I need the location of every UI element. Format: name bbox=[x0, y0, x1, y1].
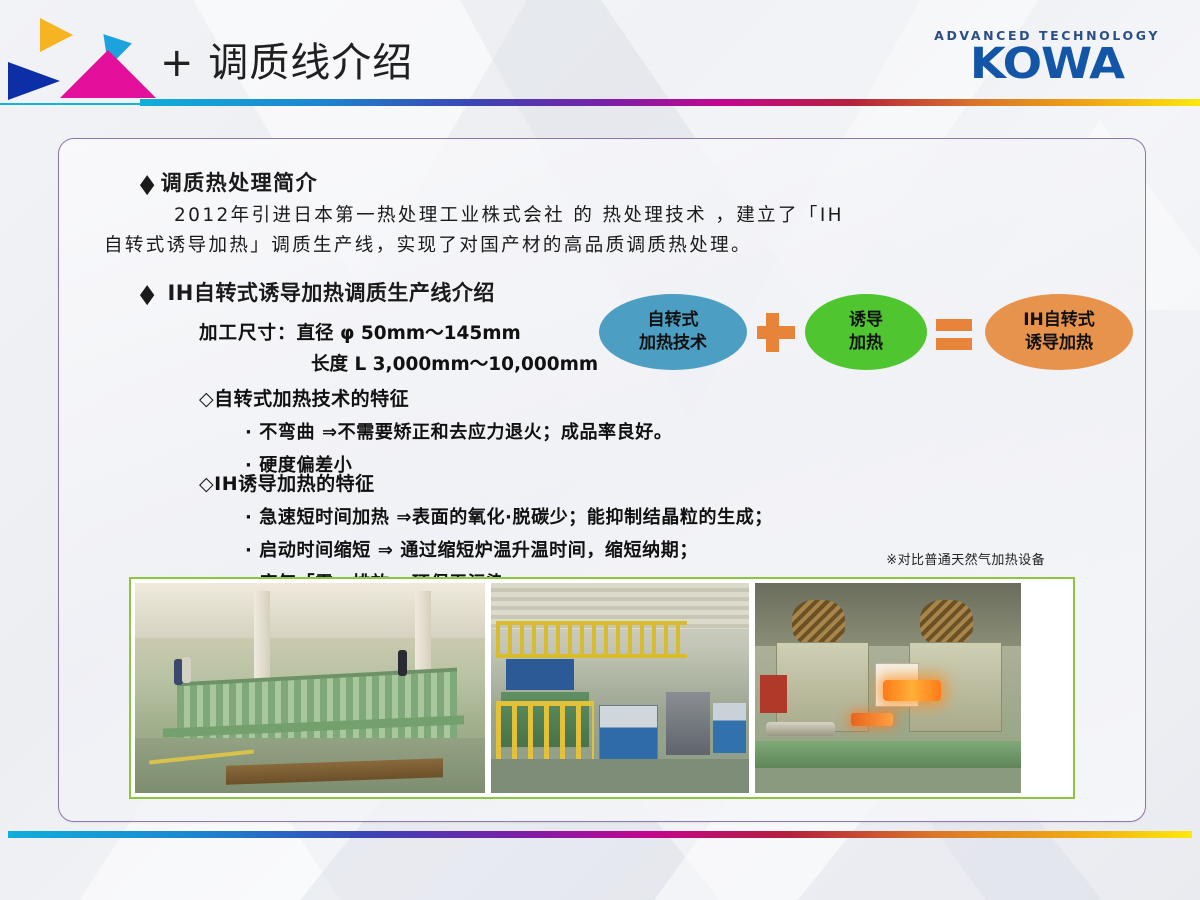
section-heading-intro: ◆调质热处理简介 bbox=[139, 167, 318, 197]
photo2-tool-cabinet bbox=[713, 703, 747, 753]
photo3-glowing-billet bbox=[883, 680, 942, 701]
header-rule-left bbox=[0, 103, 140, 105]
process-diagram: 自转式 加热技术 诱导 加热 IH自转式 诱导加热 bbox=[599, 294, 1133, 370]
footnote: ※对比普通天然气加热设备 bbox=[886, 549, 1045, 568]
content-panel: ◆调质热处理简介 2012年引进日本第一热处理工业株式会社 的 热处理技术 ，建… bbox=[58, 138, 1146, 822]
diagram-bubble-induction: 诱导 加热 bbox=[805, 294, 927, 370]
intro-paragraph: 2012年引进日本第一热处理工业株式会社 的 热处理技术 ，建立了「IH 自转式… bbox=[104, 201, 1094, 261]
photo1-worker bbox=[182, 657, 191, 683]
slide-header: + 调质线介绍 ADVANCED TECHNOLOGY KOWA bbox=[0, 0, 1200, 108]
dimensions-diameter: 直径 φ 50mm～145mm bbox=[297, 319, 521, 345]
bubble3-line2: 诱导加热 bbox=[1025, 332, 1093, 355]
photo2-floor bbox=[491, 759, 749, 793]
triangle-blue-icon bbox=[8, 62, 60, 100]
page-title: + 调质线介绍 bbox=[160, 30, 413, 88]
photo-equipment-area bbox=[491, 583, 749, 793]
feature-item: · 急速短时间加热 ⇒表面的氧化·脱碳少；能抑制结晶粒的生成； bbox=[199, 503, 773, 529]
kowa-logo: ADVANCED TECHNOLOGY KOWA bbox=[934, 28, 1160, 85]
photo2-blue-machine bbox=[506, 659, 573, 691]
bubble3-line1: IH自转式 bbox=[1023, 309, 1095, 332]
dimensions-row-1: 加工尺寸： 直径 φ 50mm～145mm bbox=[199, 319, 598, 345]
feature-group-1-label: 自转式加热技术的特征 bbox=[214, 388, 409, 410]
dimensions-block: 加工尺寸： 直径 φ 50mm～145mm 长度 L 3,000mm～10,00… bbox=[199, 319, 598, 376]
photo3-induction-coil bbox=[792, 600, 845, 646]
photo-production-line bbox=[135, 583, 485, 793]
feature-group-rotation: ◇自转式加热技术的特征 · 不弯曲 ⇒不需要矫正和去应力退火；成品率良好。 · … bbox=[199, 384, 672, 477]
dimensions-length: 长度 L 3,000mm～10,000mm bbox=[311, 350, 598, 376]
dimensions-row-2: 长度 L 3,000mm～10,000mm bbox=[199, 350, 598, 376]
diamond-bullet-icon: ◆ bbox=[140, 168, 156, 198]
plus-vertical-bar bbox=[766, 313, 779, 352]
dimensions-label: 加工尺寸： bbox=[199, 319, 297, 345]
photo3-glowing-billet bbox=[851, 713, 894, 726]
diagram-bubble-result: IH自转式 诱导加热 bbox=[985, 294, 1133, 370]
photo2-tool-cabinet bbox=[599, 705, 658, 762]
section-heading-line-label: IH自转式诱导加热调质生产线介绍 bbox=[167, 281, 494, 305]
photo2-safety-fence bbox=[496, 701, 594, 766]
photo-strip bbox=[129, 577, 1075, 799]
bubble1-line2: 加热技术 bbox=[639, 332, 707, 355]
feature-group-2-heading: ◇IH诱导加热的特征 bbox=[199, 469, 773, 496]
photo-induction-heater bbox=[755, 583, 1021, 793]
triangle-magenta-icon bbox=[60, 50, 156, 98]
photo3-induction-coil bbox=[920, 600, 973, 646]
photo3-red-frame bbox=[760, 675, 787, 713]
bubble2-line1: 诱导 bbox=[849, 309, 883, 332]
equals-bar-top bbox=[936, 319, 972, 331]
equals-bar-bottom bbox=[936, 338, 972, 350]
bubble1-line1: 自转式 bbox=[648, 309, 699, 332]
photo2-upper-railing bbox=[496, 621, 687, 658]
logo-wordmark: KOWA bbox=[925, 44, 1169, 85]
feature-item: · 启动时间缩短 ⇒ 通过缩短炉温升温时间，缩短纳期； bbox=[199, 536, 773, 562]
photo1-worker bbox=[174, 659, 183, 685]
equals-operator-icon bbox=[933, 307, 979, 357]
photo3-green-rail bbox=[755, 741, 1021, 768]
photo1-worker bbox=[398, 650, 407, 676]
photo3-floor bbox=[755, 768, 1021, 793]
diamond-bullet-icon: ◆ bbox=[140, 278, 155, 308]
diagram-bubble-rotation: 自转式 加热技术 bbox=[599, 294, 747, 370]
footer-rainbow-rule bbox=[8, 831, 1192, 838]
photo3-pipe bbox=[766, 722, 835, 737]
slide-root: + 调质线介绍 ADVANCED TECHNOLOGY KOWA ◆调质热处理简… bbox=[0, 0, 1200, 900]
photo1-ceiling bbox=[135, 583, 485, 638]
feature-group-1-heading: ◇自转式加热技术的特征 bbox=[199, 384, 672, 411]
intro-paragraph-line1: 2012年引进日本第一热处理工业株式会社 的 热处理技术 ，建立了「IH bbox=[104, 201, 844, 231]
plus-operator-icon bbox=[753, 307, 799, 357]
header-rainbow-rule bbox=[140, 99, 1200, 106]
photo2-grey-cabinet bbox=[666, 692, 710, 755]
intro-paragraph-line2: 自转式诱导加热」调质生产线，实现了对国产材的高品质调质热处理。 bbox=[104, 235, 752, 256]
feature-group-2-label: IH诱导加热的特征 bbox=[214, 473, 374, 495]
bubble2-line2: 加热 bbox=[849, 332, 883, 355]
feature-item: · 不弯曲 ⇒不需要矫正和去应力退火；成品率良好。 bbox=[199, 418, 672, 444]
triangle-yellow-icon bbox=[40, 18, 73, 52]
section-heading-line: ◆ IH自转式诱导加热调质生产线介绍 bbox=[139, 277, 495, 307]
section-heading-intro-label: 调质热处理简介 bbox=[161, 171, 319, 195]
